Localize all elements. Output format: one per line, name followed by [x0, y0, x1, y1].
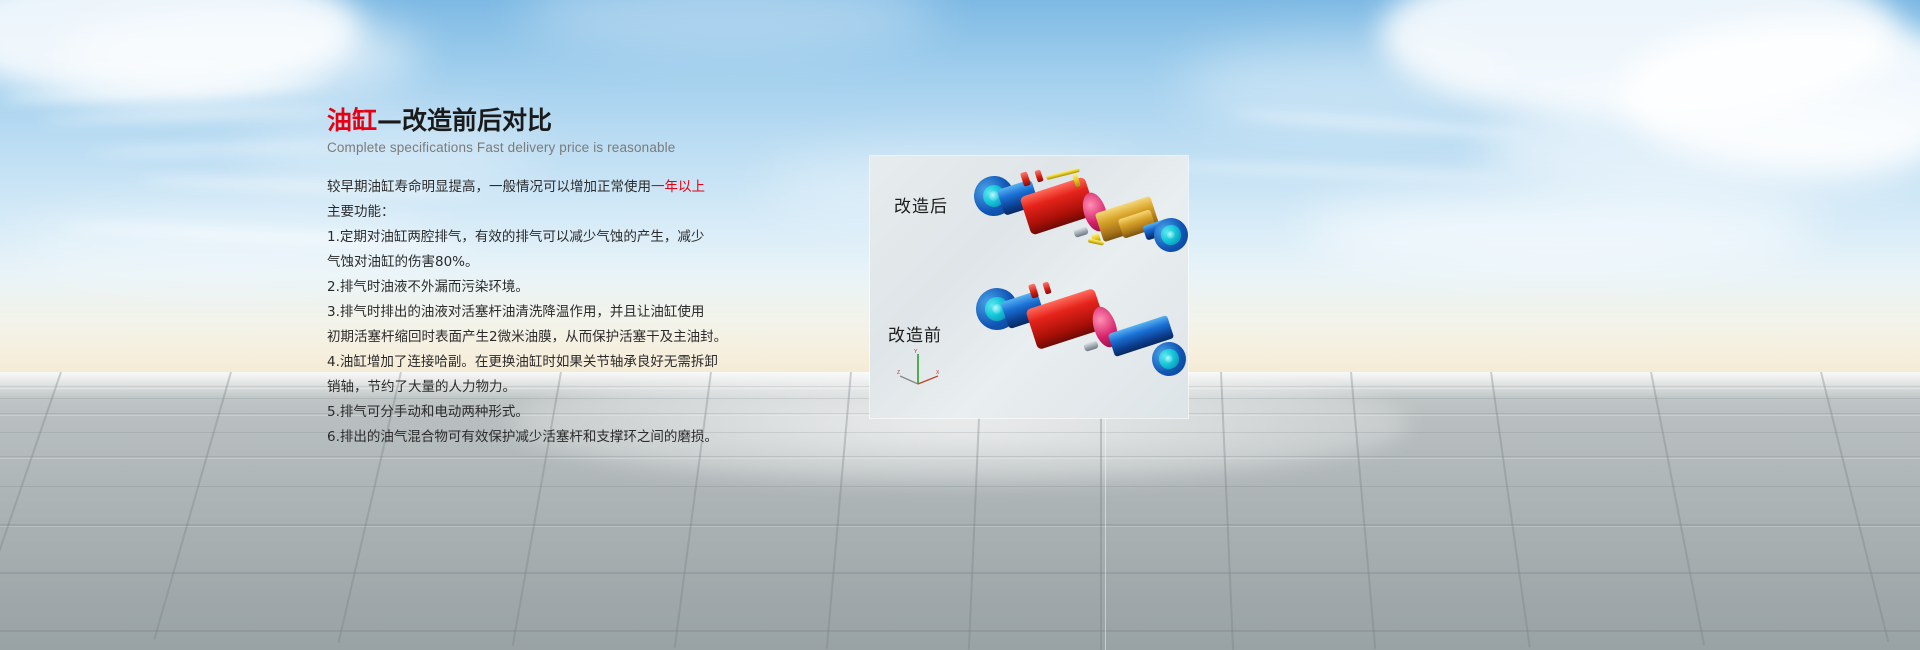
feature-line: 较早期油缸寿命明显提高，一般情况可以增加正常使用一年以上 — [327, 175, 747, 200]
svg-text:X: X — [936, 370, 940, 376]
feature-line: 初期活塞杆缩回时表面产生2微米油膜，从而保护活塞干及主油封。 — [327, 325, 747, 350]
feature-list: 较早期油缸寿命明显提高，一般情况可以增加正常使用一年以上 主要功能： 1.定期对… — [327, 175, 747, 450]
bleed-valve-pin — [1034, 169, 1043, 182]
pavement-joint — [0, 486, 1920, 487]
label-after-modification: 改造后 — [894, 192, 948, 217]
banner-text-block: 油缸—改造前后对比 Complete specifications Fast d… — [327, 104, 747, 450]
pavement-joint — [0, 432, 1920, 433]
pavement-joint — [0, 630, 1920, 632]
cloud-shape — [1180, 40, 1510, 130]
feature-line: 主要功能： — [327, 200, 747, 225]
svg-text:Z: Z — [897, 370, 900, 376]
banner-stage: 油缸—改造前后对比 Complete specifications Fast d… — [0, 0, 1920, 650]
pavement-highlight — [0, 526, 1920, 527]
page-title-highlight: 油缸 — [327, 106, 377, 135]
cylinder-fitting — [1083, 340, 1099, 352]
feature-line: 销轴，节约了大量的人力物力。 — [327, 375, 747, 400]
feature-line: 3.排气时排出的油液对活塞杆油清洗降温作用，并且让油缸使用 — [327, 300, 747, 325]
comparison-image-panel: 改造后 改造前 Y X Z — [870, 156, 1188, 418]
page-title: 油缸—改造前后对比 — [327, 104, 747, 138]
feature-line: 4.油缸增加了连接哈副。在更换油缸时如果关节轴承良好无需拆卸 — [327, 350, 747, 375]
port-fitting-pin — [1042, 281, 1051, 294]
bleed-tube — [1088, 238, 1104, 245]
pavement-joint — [0, 372, 62, 635]
label-before-modification: 改造前 — [888, 321, 942, 346]
cloud-shape — [520, 0, 940, 50]
cylinder-before-modification — [976, 284, 1182, 402]
feature-line: 1.定期对油缸两腔排气，有效的排气可以减少气蚀的产生，减少 — [327, 225, 747, 250]
cloud-streak — [1150, 162, 1510, 182]
cylinder-fitting — [1073, 226, 1089, 238]
feature-line: 6.排出的油气混合物可有效保护减少活塞杆和支撑环之间的磨损。 — [327, 425, 747, 450]
feature-line-highlight: 一年以上 — [651, 179, 705, 195]
cloud-shape — [1300, 190, 1820, 270]
feature-line: 气蚀对油缸的伤害80%。 — [327, 250, 747, 275]
page-subtitle: Complete specifications Fast delivery pr… — [327, 140, 747, 155]
pavement-joint — [0, 572, 1920, 574]
page-title-rest: —改造前后对比 — [377, 106, 552, 135]
feature-line-text: 较早期油缸寿命明显提高，一般情况可以增加正常使用 — [327, 179, 651, 195]
feature-line: 2.排气时油液不外漏而污染环境。 — [327, 275, 747, 300]
feature-line: 5.排气可分手动和电动两种形式。 — [327, 400, 747, 425]
cloud-shape — [1480, 90, 1920, 200]
cloud-streak — [40, 107, 340, 124]
cylinder-after-modification — [974, 170, 1182, 280]
pavement-highlight — [0, 458, 1920, 459]
pavement-joint — [0, 456, 1920, 457]
cad-axis-gizmo-icon: Y X Z — [896, 346, 942, 388]
